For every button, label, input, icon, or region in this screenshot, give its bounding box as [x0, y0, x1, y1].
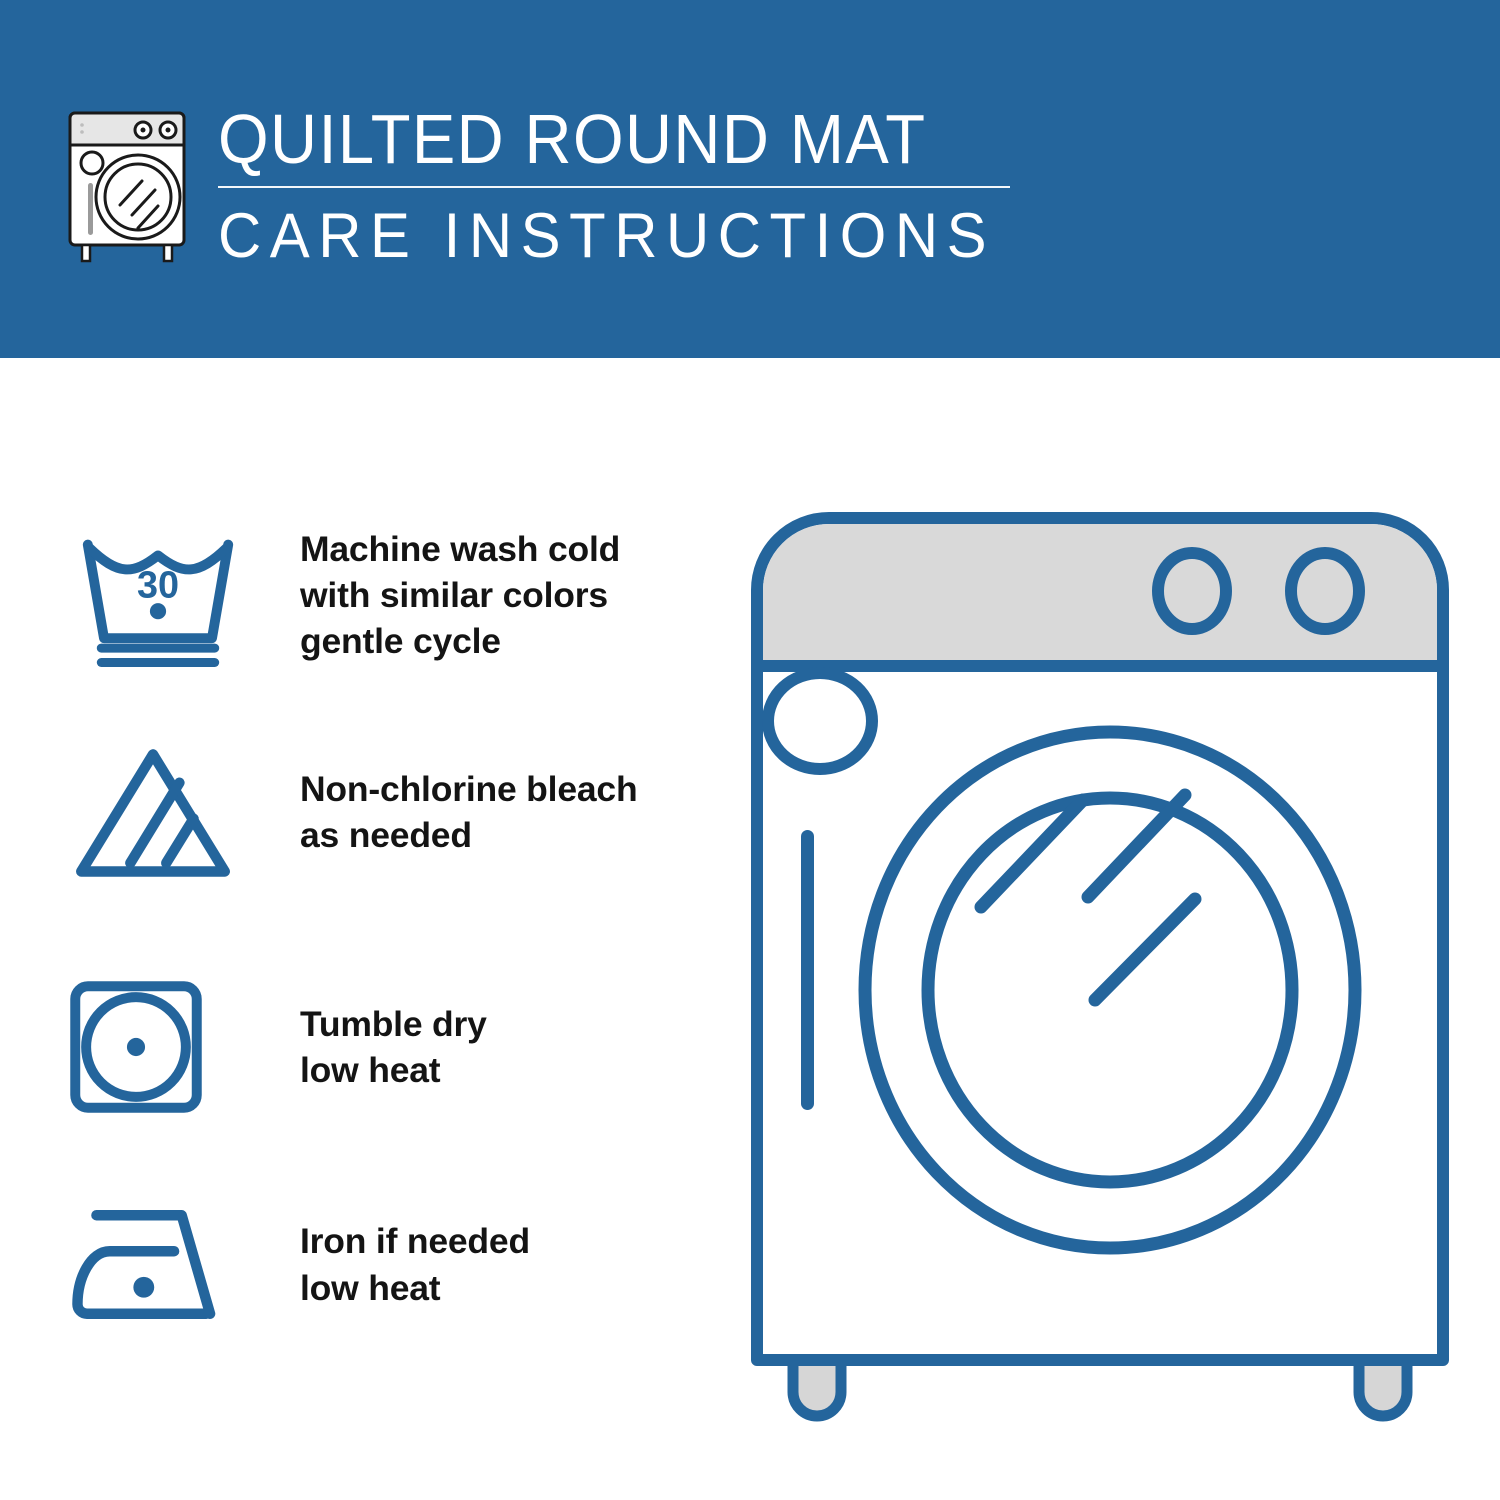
instruction-text: Non-chlorine bleach as needed [275, 766, 720, 858]
instruction-text: Iron if needed low heat [275, 1218, 720, 1310]
list-item: Iron if needed low heat [60, 1182, 720, 1347]
door-handle [801, 830, 814, 1110]
header-banner: QUILTED ROUND MAT CARE INSTRUCTIONS [0, 0, 1500, 358]
instruction-line: gentle cycle [300, 618, 720, 664]
header-text-group: QUILTED ROUND MAT CARE INSTRUCTIONS [218, 104, 1018, 269]
instruction-text: Tumble dry low heat [275, 1001, 720, 1093]
washing-machine-icon [62, 105, 192, 265]
page-subtitle: CARE INSTRUCTIONS [218, 203, 978, 269]
care-instructions-list: 30 Machine wash cold with similar colors… [60, 500, 720, 1360]
instruction-line: Non-chlorine bleach [300, 766, 720, 812]
instruction-line: low heat [300, 1047, 720, 1093]
front-load-washing-machine-illustration [735, 495, 1465, 1425]
instruction-line: with similar colors [300, 572, 720, 618]
list-item: Tumble dry low heat [60, 962, 720, 1132]
instruction-line: Machine wash cold [300, 526, 720, 572]
wash-tub-30-gentle-icon: 30 [60, 523, 275, 667]
list-item: 30 Machine wash cold with similar colors… [60, 500, 720, 690]
instruction-line: Iron if needed [300, 1218, 720, 1264]
page-title: QUILTED ROUND MAT [218, 104, 962, 174]
title-divider [218, 186, 1010, 188]
instruction-text: Machine wash cold with similar colors ge… [275, 526, 720, 664]
instruction-line: as needed [300, 812, 720, 858]
tumble-dry-low-heat-icon [60, 979, 275, 1115]
wash-temp-label: 30 [137, 565, 179, 607]
non-chlorine-bleach-triangle-icon [60, 741, 275, 883]
instruction-line: Tumble dry [300, 1001, 720, 1047]
control-panel [763, 524, 1437, 666]
list-item: Non-chlorine bleach as needed [60, 722, 720, 902]
iron-low-heat-icon [60, 1198, 275, 1331]
instruction-line: low heat [300, 1265, 720, 1311]
